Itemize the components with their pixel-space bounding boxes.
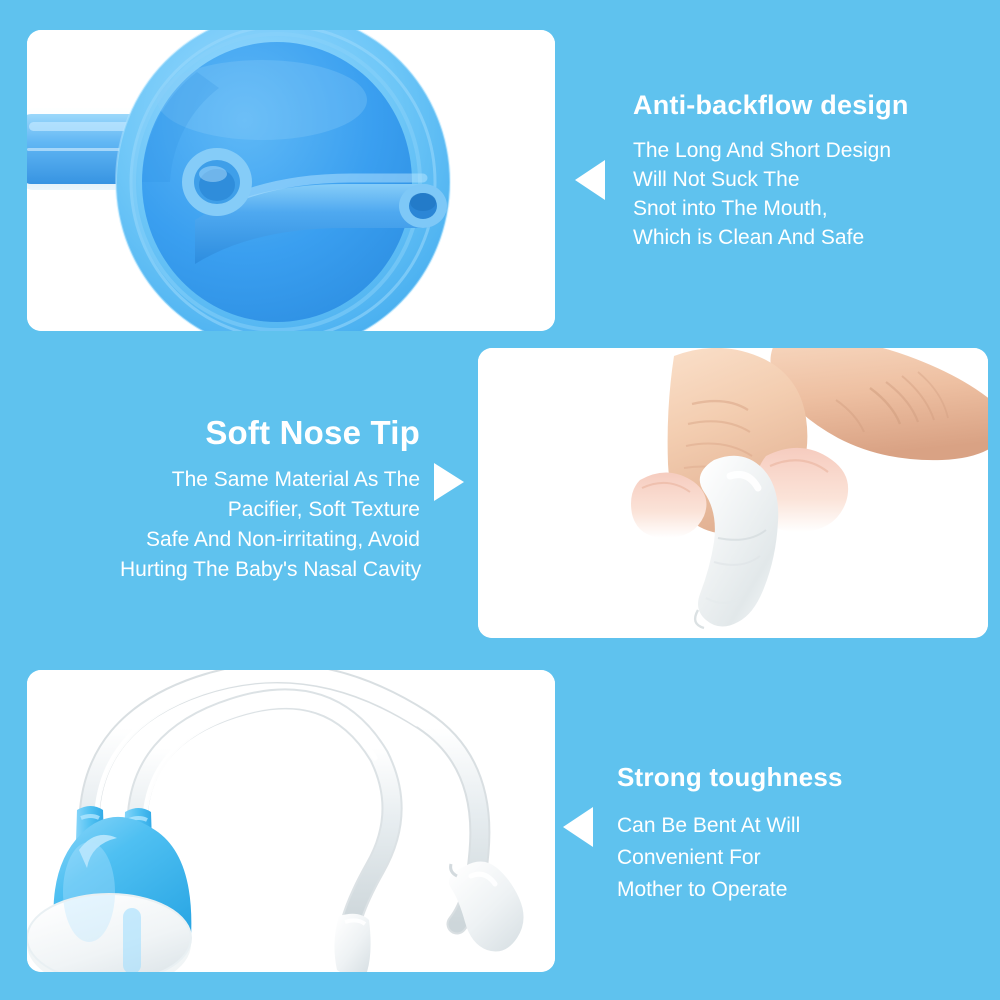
feature-body-line: Convenient For xyxy=(617,842,843,874)
feature-body-line: Will Not Suck The xyxy=(633,165,909,194)
photo-card-strong-toughness xyxy=(27,670,555,972)
aspirator-cap-photo xyxy=(27,30,555,331)
arrow-left-icon-anti-backflow xyxy=(575,160,605,200)
feature-text-soft-nose-tip: Soft Nose Tip The Same Material As The P… xyxy=(120,413,420,585)
feature-body-strong-toughness: Can Be Bent At Will Convenient For Mothe… xyxy=(617,810,843,906)
feature-heading-anti-backflow: Anti-backflow design xyxy=(633,88,909,122)
hand-holding-nose-tip-photo xyxy=(478,348,988,638)
feature-text-strong-toughness: Strong toughness Can Be Bent At Will Con… xyxy=(617,760,843,906)
feature-body-line: Pacifier, Soft Texture xyxy=(120,495,420,525)
feature-body-anti-backflow: The Long And Short Design Will Not Suck … xyxy=(633,136,909,252)
arrow-left-icon-strong-toughness xyxy=(563,807,593,847)
feature-body-line: Can Be Bent At Will xyxy=(617,810,843,842)
feature-body-line: Mother to Operate xyxy=(617,874,843,906)
photo-card-soft-nose-tip xyxy=(478,348,988,638)
feature-body-line: Hurting The Baby's Nasal Cavity xyxy=(120,555,420,585)
feature-heading-soft-nose-tip: Soft Nose Tip xyxy=(120,413,420,453)
feature-body-line: The Long And Short Design xyxy=(633,136,909,165)
feature-body-line: Which is Clean And Safe xyxy=(633,223,909,252)
feature-body-line: Snot into The Mouth, xyxy=(633,194,909,223)
full-aspirator-photo xyxy=(27,670,555,972)
infographic-stage: Anti-backflow design The Long And Short … xyxy=(0,0,1000,1000)
photo-card-anti-backflow xyxy=(27,30,555,331)
feature-text-anti-backflow: Anti-backflow design The Long And Short … xyxy=(633,88,909,252)
feature-body-soft-nose-tip: The Same Material As The Pacifier, Soft … xyxy=(120,465,420,585)
feature-body-line: Safe And Non-irritating, Avoid xyxy=(120,525,420,555)
arrow-right-icon-soft-nose-tip xyxy=(434,463,464,501)
feature-heading-strong-toughness: Strong toughness xyxy=(617,760,843,794)
feature-body-line: The Same Material As The xyxy=(120,465,420,495)
